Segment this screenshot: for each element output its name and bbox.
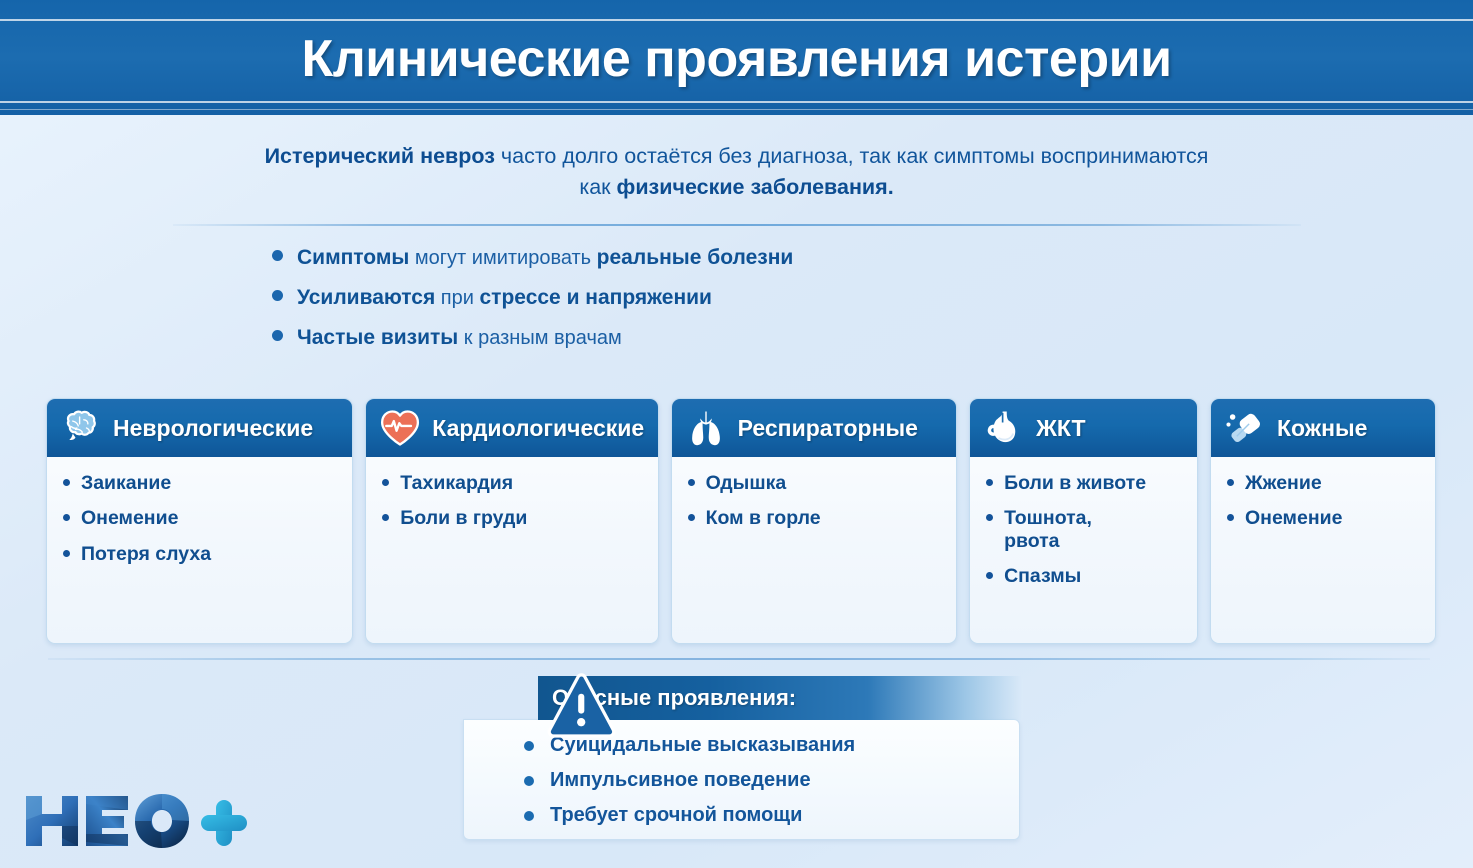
bullet-dot-icon	[1227, 514, 1234, 521]
section-divider	[48, 658, 1430, 660]
skin-patch-icon	[1223, 406, 1267, 450]
logo-letter-n	[26, 796, 78, 846]
warning-list-item: Требует срочной помощи	[524, 804, 1019, 827]
bullet-dot-icon	[382, 514, 389, 521]
card-title: Кожные	[1277, 415, 1367, 442]
card-list-item: Боли в груди	[382, 507, 643, 529]
card-list-item: Жжение	[1227, 472, 1421, 494]
intro-divider	[173, 224, 1301, 226]
symptom-card-neurological: Неврологические Заикание Онемение Потеря…	[46, 398, 353, 644]
key-point-item: Усиливаются при стрессе и напряжении	[272, 286, 1172, 310]
intro-line-2: как физические заболевания.	[579, 175, 893, 199]
bullet-dot-icon	[688, 479, 695, 486]
key-point-lead: Частые визиты	[297, 326, 458, 349]
card-title: Кардиологические	[432, 415, 644, 442]
intro-line-1: Истерический невроз часто долго остаётся…	[265, 144, 1209, 168]
bullet-dot-icon	[524, 776, 534, 786]
card-body: Тахикардия Боли в груди	[366, 457, 657, 543]
logo-letter-o	[135, 794, 189, 848]
card-list-item: Заикание	[63, 472, 338, 494]
card-list-item: Одышка	[688, 472, 942, 494]
intro-paragraph: Истерический невроз часто долго остаётся…	[157, 141, 1317, 202]
bullet-dot-icon	[986, 514, 993, 521]
bullet-dot-icon	[272, 290, 283, 301]
intro-bold-term-2: физические заболевания.	[617, 175, 894, 199]
header-rule-bottom	[0, 101, 1473, 103]
card-list-item: Ком в горле	[688, 507, 942, 529]
bullet-dot-icon	[524, 811, 534, 821]
key-point-item: Частые визиты к разным врачам	[272, 326, 1172, 350]
key-point-lead: Симптомы	[297, 246, 409, 269]
page-title: Клинические проявления истерии	[301, 29, 1171, 89]
logo-plus-icon	[201, 800, 247, 846]
card-header: Кардиологические	[366, 399, 657, 457]
key-point-lead: Усиливаются	[297, 286, 435, 309]
card-title: Неврологические	[113, 415, 313, 442]
brain-icon	[59, 406, 103, 450]
symptom-card-skin: Кожные Жжение Онемение	[1210, 398, 1436, 644]
header-rule-bottom-thin	[0, 109, 1473, 110]
page-header: Клинические проявления истерии	[0, 0, 1473, 115]
symptom-card-gastrointestinal: ЖКТ Боли в животе Тошнота, рвота Спазмы	[969, 398, 1198, 644]
symptom-card-cardiological: Кардиологические Тахикардия Боли в груди	[365, 398, 658, 644]
danger-warning-box: Опасные проявления: Суицидальные высказы…	[463, 676, 1023, 840]
bullet-dot-icon	[63, 479, 70, 486]
card-body: Одышка Ком в горле	[672, 457, 956, 543]
bullet-dot-icon	[382, 479, 389, 486]
symptom-card-respiratory: Респираторные Одышка Ком в горле	[671, 398, 957, 644]
card-header: Кожные	[1211, 399, 1435, 457]
bullet-dot-icon	[986, 479, 993, 486]
card-header: Неврологические	[47, 399, 352, 457]
warning-list-item: Импульсивное поведение	[524, 769, 1019, 792]
card-header: Респираторные	[672, 399, 956, 457]
card-list-item: Боли в животе	[986, 472, 1183, 494]
stomach-icon	[982, 406, 1026, 450]
card-header: ЖКТ	[970, 399, 1197, 457]
brand-logo	[20, 788, 260, 854]
bullet-dot-icon	[986, 572, 993, 579]
bullet-dot-icon	[272, 330, 283, 341]
heart-pulse-icon	[378, 406, 422, 450]
bullet-dot-icon	[688, 514, 695, 521]
warning-triangle-icon	[538, 671, 624, 743]
bullet-dot-icon	[524, 741, 534, 751]
card-list-item: Потеря слуха	[63, 543, 338, 565]
key-points-list: Симптомы могут имитировать реальные боле…	[272, 246, 1172, 350]
lungs-icon	[684, 406, 728, 450]
bullet-dot-icon	[63, 550, 70, 557]
logo-letter-e	[86, 796, 128, 846]
card-body: Жжение Онемение	[1211, 457, 1435, 543]
card-list-item: Тахикардия	[382, 472, 643, 494]
card-list-item: Тошнота, рвота	[986, 507, 1183, 552]
symptom-cards-row: Неврологические Заикание Онемение Потеря…	[46, 398, 1436, 644]
key-point-item: Симптомы могут имитировать реальные боле…	[272, 246, 1172, 270]
card-title: ЖКТ	[1036, 415, 1085, 442]
header-rule-top	[0, 19, 1473, 21]
card-list-item: Онемение	[1227, 507, 1421, 529]
warning-header: Опасные проявления:	[538, 676, 1023, 720]
card-list-item: Онемение	[63, 507, 338, 529]
bullet-dot-icon	[1227, 479, 1234, 486]
card-body: Заикание Онемение Потеря слуха	[47, 457, 352, 578]
card-title: Респираторные	[738, 415, 918, 442]
bullet-dot-icon	[63, 514, 70, 521]
intro-bold-term: Истерический невроз	[265, 144, 495, 168]
card-list-item: Спазмы	[986, 565, 1183, 587]
bullet-dot-icon	[272, 250, 283, 261]
card-body: Боли в животе Тошнота, рвота Спазмы	[970, 457, 1197, 601]
